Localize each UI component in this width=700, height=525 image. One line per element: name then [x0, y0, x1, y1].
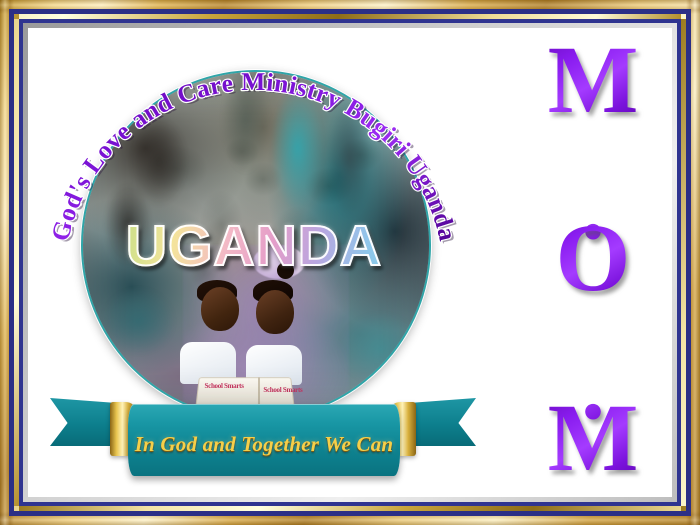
arc-text: God's Love and Care Ministry Bugiri Ugan…: [45, 67, 463, 244]
mom-dot-5: .: [514, 458, 672, 497]
ministry-logo: School Smarts School Smarts UGANDA UGAND…: [28, 28, 498, 497]
artwork-canvas: School Smarts School Smarts UGANDA UGAND…: [28, 28, 672, 497]
arc-text-path: God's Love and Care Ministry Bugiri Ugan…: [45, 67, 463, 244]
mom-acronym-column: M.O.M.: [514, 28, 672, 497]
ribbon-motto-text: In God and Together We Can: [132, 432, 396, 456]
mom-letter-2: O: [514, 210, 672, 306]
mom-letter-0: M: [514, 32, 672, 128]
ornate-picture-frame: School Smarts School Smarts UGANDA UGAND…: [0, 0, 700, 525]
motto-ribbon: In God and Together We Can: [48, 380, 478, 490]
